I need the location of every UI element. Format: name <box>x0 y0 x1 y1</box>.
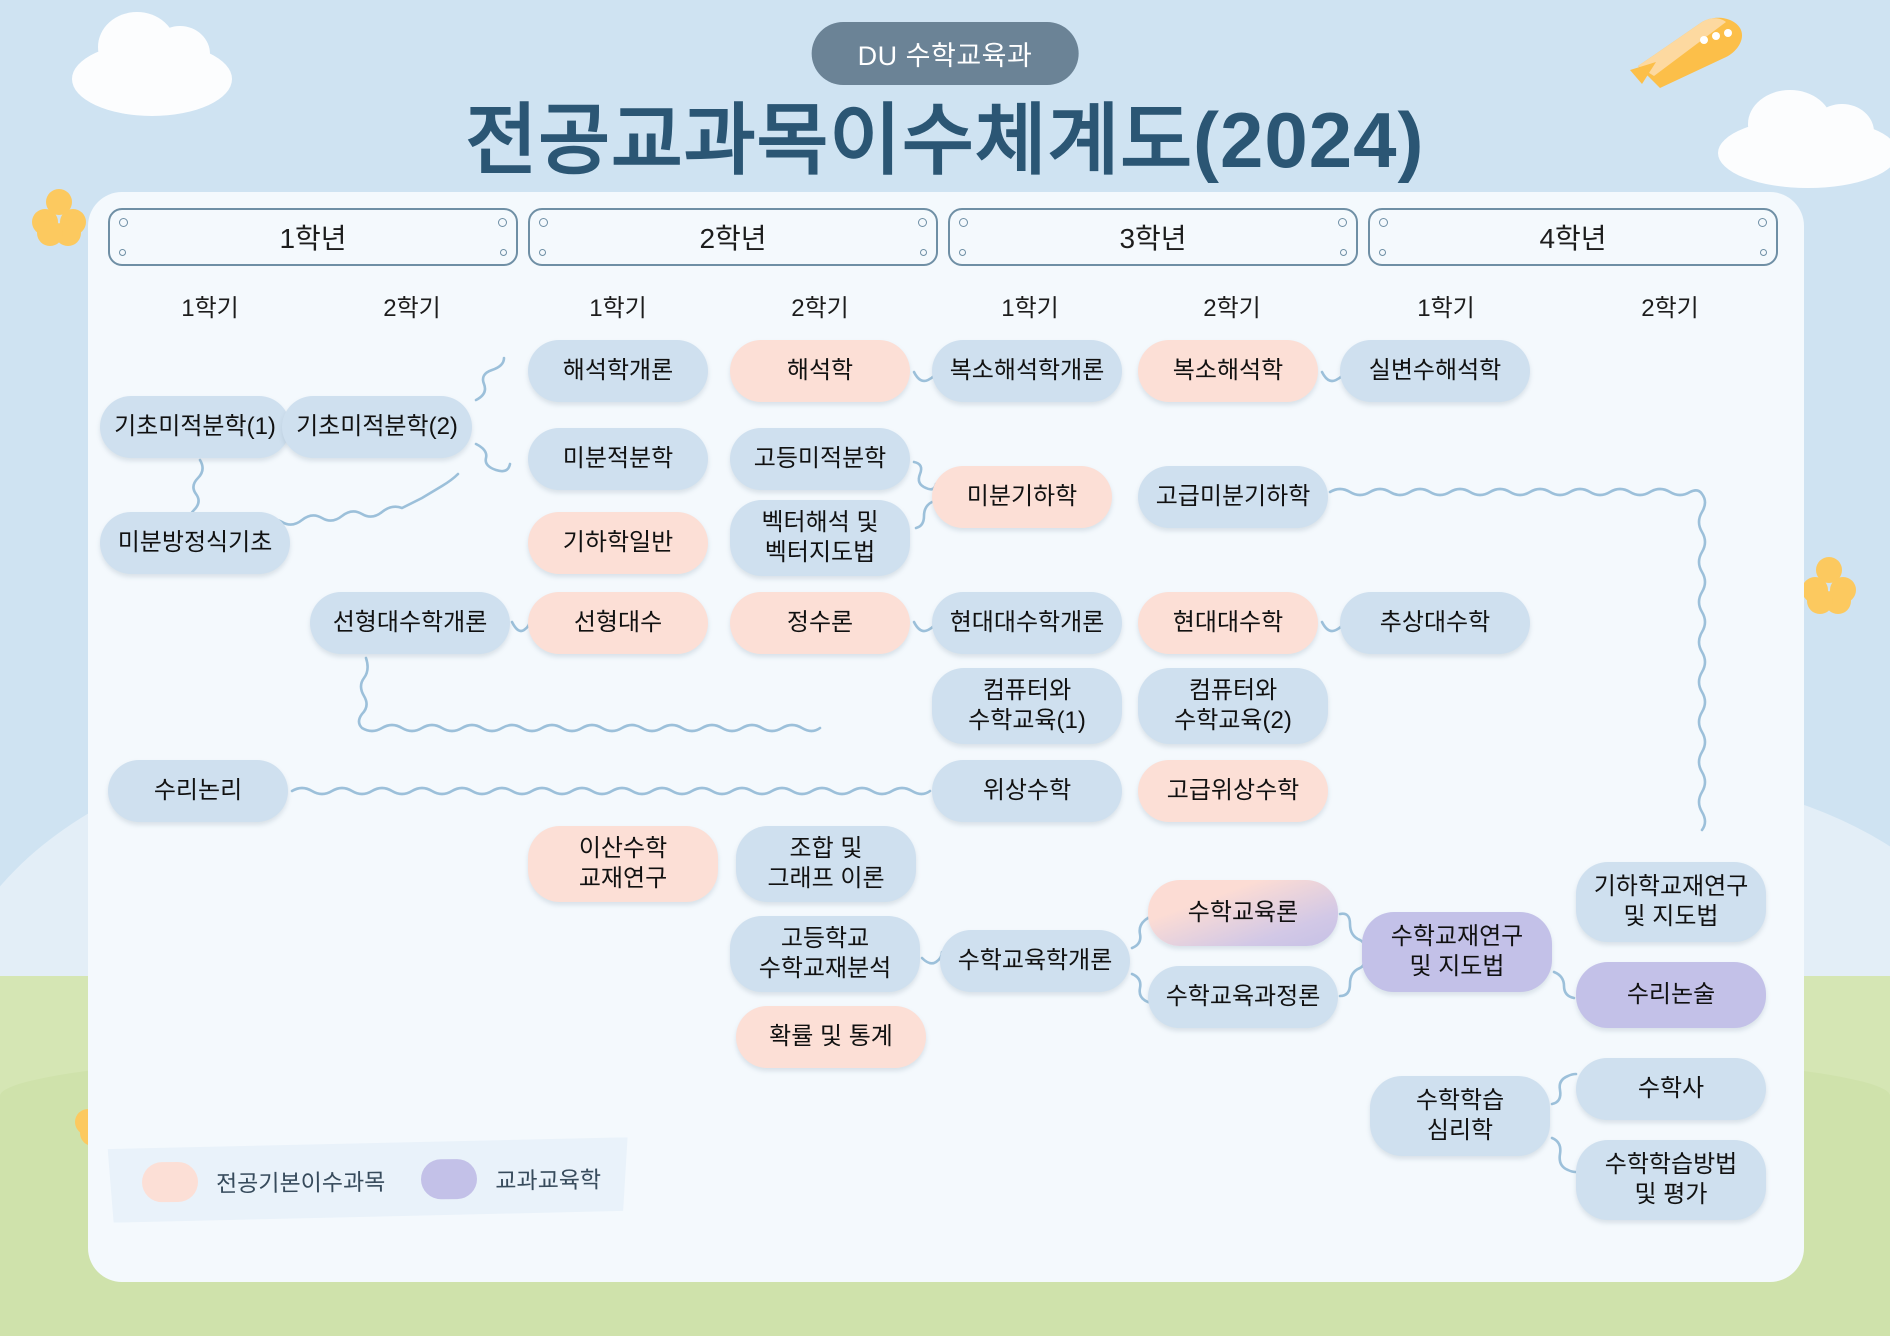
year-box-3: 3학년 <box>948 208 1358 266</box>
semester-label-y4s2: 2학기 <box>1580 288 1760 323</box>
semester-label-y3s2: 2학기 <box>1142 288 1322 323</box>
legend-label-major-basic: 전공기본이수과목 <box>216 1163 386 1199</box>
semester-label-y1s2: 2학기 <box>322 288 502 323</box>
flower-icon <box>32 190 86 244</box>
year-label: 4학년 <box>1539 217 1606 257</box>
course-node[interactable]: 고등학교수학교재분석 <box>730 916 920 992</box>
course-node[interactable]: 위상수학 <box>932 760 1122 822</box>
course-node[interactable]: 현대대수학개론 <box>932 592 1122 654</box>
course-node[interactable]: 미분기하학 <box>932 466 1112 528</box>
course-node[interactable]: 선형대수학개론 <box>310 592 510 654</box>
course-node[interactable]: 기하학교재연구및 지도법 <box>1576 862 1766 942</box>
course-node[interactable]: 이산수학교재연구 <box>528 826 718 902</box>
course-node[interactable]: 수리논리 <box>108 760 288 822</box>
course-node[interactable]: 정수론 <box>730 592 910 654</box>
semester-label-y2s1: 1학기 <box>528 288 708 323</box>
course-node[interactable]: 수학교육론 <box>1148 880 1338 946</box>
legend-swatch-pedagogy <box>421 1159 477 1200</box>
airplane-icon <box>1630 14 1750 94</box>
course-node[interactable]: 기초미적분학(2) <box>282 396 472 458</box>
year-label: 3학년 <box>1119 217 1186 257</box>
page-title: 전공교과목이수체계도(2024) <box>465 78 1424 190</box>
course-node[interactable]: 해석학 <box>730 340 910 402</box>
semester-label-y4s1: 1학기 <box>1356 288 1536 323</box>
course-node[interactable]: 수학교육학개론 <box>940 930 1130 992</box>
year-box-4: 4학년 <box>1368 208 1778 266</box>
year-box-1: 1학년 <box>108 208 518 266</box>
course-node[interactable]: 수학교재연구및 지도법 <box>1362 912 1552 992</box>
course-node[interactable]: 고급미분기하학 <box>1138 466 1328 528</box>
course-node[interactable]: 미분적분학 <box>528 428 708 490</box>
department-badge: DU 수학교육과 <box>812 22 1079 85</box>
course-node[interactable]: 미분방정식기초 <box>100 512 290 574</box>
flower-icon <box>1802 558 1856 612</box>
course-node[interactable]: 벡터해석 및벡터지도법 <box>730 500 910 576</box>
legend-label-pedagogy: 교과교육학 <box>495 1161 601 1196</box>
year-box-2: 2학년 <box>528 208 938 266</box>
course-node[interactable]: 선형대수 <box>528 592 708 654</box>
course-node[interactable]: 현대대수학 <box>1138 592 1318 654</box>
course-node[interactable]: 수리논술 <box>1576 962 1766 1028</box>
course-node[interactable]: 수학학습방법및 평가 <box>1576 1140 1766 1220</box>
course-node[interactable]: 기하학일반 <box>528 512 708 574</box>
course-node[interactable]: 고등미적분학 <box>730 428 910 490</box>
course-node[interactable]: 복소해석학 <box>1138 340 1318 402</box>
diagram-canvas: DU 수학교육과 전공교과목이수체계도(2024) 1학년 2학년 3학년 4학… <box>0 0 1890 1336</box>
course-node[interactable]: 컴퓨터와수학교육(2) <box>1138 668 1328 744</box>
course-node[interactable]: 수학교육과정론 <box>1148 966 1338 1028</box>
semester-label-y2s2: 2학기 <box>730 288 910 323</box>
course-node[interactable]: 수학사 <box>1576 1058 1766 1120</box>
course-node[interactable]: 해석학개론 <box>528 340 708 402</box>
legend-swatch-major-basic <box>142 1162 198 1203</box>
year-label: 2학년 <box>699 217 766 257</box>
course-node[interactable]: 실변수해석학 <box>1340 340 1530 402</box>
course-node[interactable]: 확률 및 통계 <box>736 1006 926 1068</box>
course-node[interactable]: 기초미적분학(1) <box>100 396 290 458</box>
cloud-icon <box>72 42 232 116</box>
year-label: 1학년 <box>279 217 346 257</box>
course-node[interactable]: 컴퓨터와수학교육(1) <box>932 668 1122 744</box>
course-node[interactable]: 추상대수학 <box>1340 592 1530 654</box>
semester-label-y3s1: 1학기 <box>940 288 1120 323</box>
course-node[interactable]: 복소해석학개론 <box>932 340 1122 402</box>
legend: 전공기본이수과목 교과교육학 <box>108 1137 629 1222</box>
cloud-icon <box>1718 118 1890 188</box>
semester-label-y1s1: 1학기 <box>120 288 300 323</box>
course-node[interactable]: 고급위상수학 <box>1138 760 1328 822</box>
course-node[interactable]: 조합 및그래프 이론 <box>736 826 916 902</box>
course-node[interactable]: 수학학습심리학 <box>1370 1076 1550 1156</box>
